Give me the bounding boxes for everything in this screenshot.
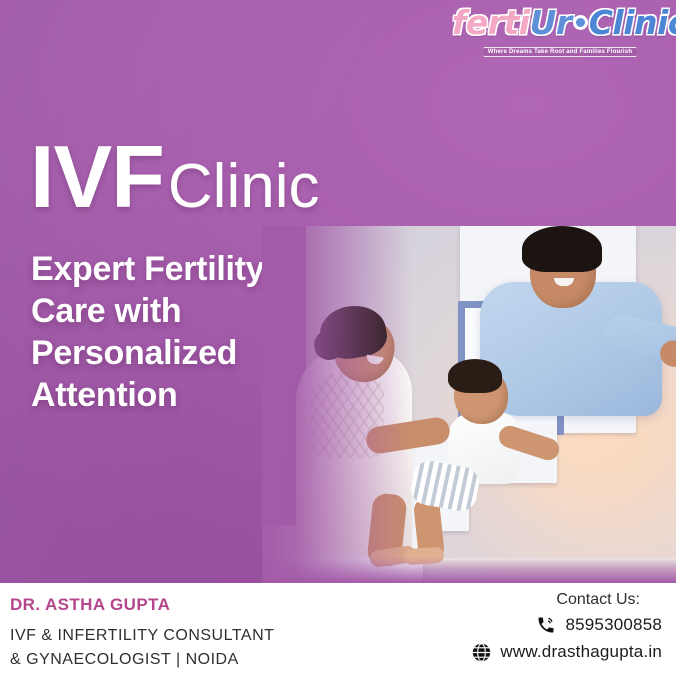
footer-bar: DR. ASTHA GUPTA IVF & INFERTILITY CONSUL… bbox=[0, 583, 676, 676]
headline-ivf: IVF bbox=[30, 127, 164, 226]
family-photo bbox=[262, 226, 676, 583]
subheadline: Expert Fertility Care with Personalized … bbox=[31, 248, 264, 416]
circle-ring-icon bbox=[573, 15, 588, 30]
headline: IVFClinic bbox=[30, 133, 320, 221]
clinic-logo[interactable]: fertiUrClinic Where Dreams Take Root and… bbox=[452, 6, 668, 62]
doctor-role: IVF & INFERTILITY CONSULTANT & GYNAECOLO… bbox=[10, 624, 274, 672]
logo-text-uro: Ur bbox=[530, 3, 572, 42]
hero-panel: fertiUrClinic Where Dreams Take Root and… bbox=[0, 0, 676, 583]
phone-number: 8595300858 bbox=[565, 615, 662, 635]
globe-icon bbox=[470, 641, 492, 663]
logo-wordmark: fertiUrClinic bbox=[452, 6, 668, 40]
phone-icon bbox=[535, 614, 557, 636]
contact-label: Contact Us: bbox=[470, 591, 640, 609]
website-row[interactable]: www.drasthagupta.in bbox=[470, 641, 662, 663]
contact-block: Contact Us: 8595300858 bbox=[470, 591, 662, 663]
photo-left-fade bbox=[262, 226, 412, 583]
photo-bottom-fade bbox=[262, 557, 676, 583]
logo-text-ferti: ferti bbox=[452, 3, 530, 42]
doctor-role-line-2: & GYNAECOLOGIST | NOIDA bbox=[10, 648, 274, 672]
father-hair bbox=[522, 226, 602, 272]
headline-clinic: Clinic bbox=[168, 152, 320, 221]
doctor-name: DR. ASTHA GUPTA bbox=[10, 595, 170, 615]
doctor-role-line-1: IVF & INFERTILITY CONSULTANT bbox=[10, 624, 274, 648]
ivf-clinic-advertisement: fertiUrClinic Where Dreams Take Root and… bbox=[0, 0, 676, 676]
subheadline-line-2: Care with bbox=[31, 290, 264, 332]
phone-row[interactable]: 8595300858 bbox=[470, 614, 662, 636]
subheadline-line-3: Personalized bbox=[31, 332, 264, 374]
subheadline-line-1: Expert Fertility bbox=[31, 248, 264, 290]
baby-hair bbox=[448, 359, 502, 393]
logo-text-clinic: Clinic bbox=[589, 3, 676, 42]
logo-tagline: Where Dreams Take Root and Families Flou… bbox=[483, 47, 637, 57]
subheadline-line-4: Attention bbox=[31, 374, 264, 416]
website-url: www.drasthagupta.in bbox=[500, 642, 662, 662]
